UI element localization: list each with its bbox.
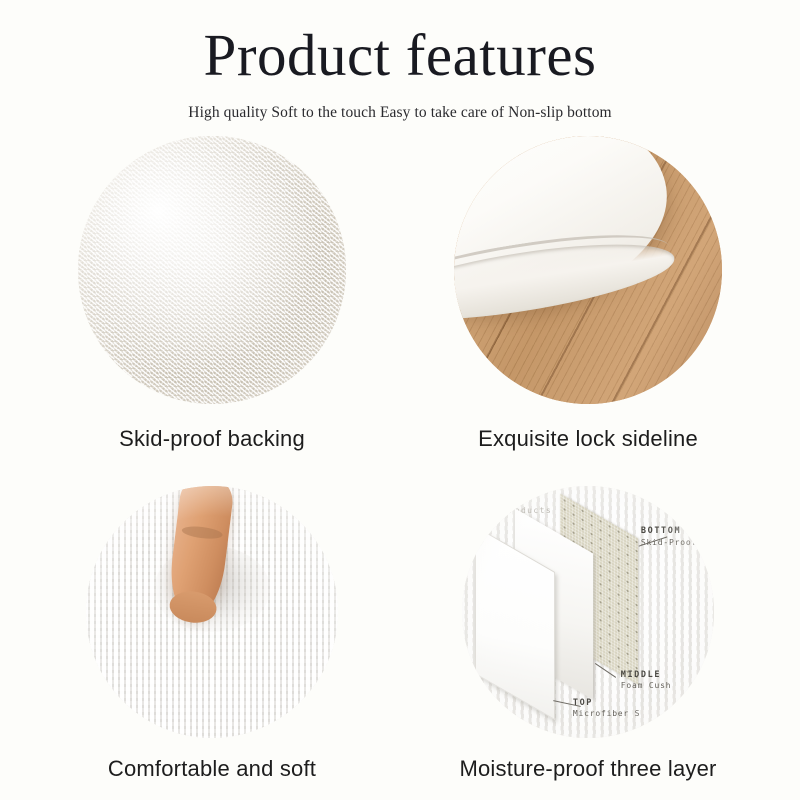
feature-caption: Moisture-proof three layer <box>418 738 758 782</box>
diagram-vignette <box>462 486 714 738</box>
feature-image-comfortable-and-soft <box>86 486 338 738</box>
feature-caption: Exquisite lock sideline <box>418 404 758 452</box>
feature-moisture-proof-three-layer: products BOTTOM Skid-Proof MIDDLE <box>418 486 758 782</box>
feature-skid-proof-backing: Skid-proof backing <box>42 136 382 452</box>
wood-floor-image <box>454 136 722 404</box>
feature-exquisite-lock-sideline: Exquisite lock sideline <box>418 136 758 452</box>
header: Product features High quality Soft to th… <box>0 0 800 121</box>
edge-highlight <box>86 486 338 738</box>
feature-caption: Skid-proof backing <box>42 404 382 452</box>
feature-image-skid-proof-backing <box>78 136 346 404</box>
page-subtitle: High quality Soft to the touch Easy to t… <box>0 85 800 121</box>
feature-image-moisture-proof-three-layer: products BOTTOM Skid-Proof MIDDLE <box>462 486 714 738</box>
product-features-page: Product features High quality Soft to th… <box>0 0 800 800</box>
feature-caption: Comfortable and soft <box>42 738 382 782</box>
page-title: Product features <box>0 0 800 85</box>
three-layer-diagram-image: products BOTTOM Skid-Proof MIDDLE <box>462 486 714 738</box>
feature-comfortable-and-soft: Comfortable and soft <box>42 486 382 782</box>
mesh-texture-image <box>78 136 346 404</box>
locked-seam <box>454 229 679 335</box>
mat-edge-shape <box>454 136 682 331</box>
feature-grid: Skid-proof backing Exquisite lock sideli… <box>0 136 800 796</box>
plush-surface-image <box>86 486 338 738</box>
feature-image-exquisite-lock-sideline <box>454 136 722 404</box>
